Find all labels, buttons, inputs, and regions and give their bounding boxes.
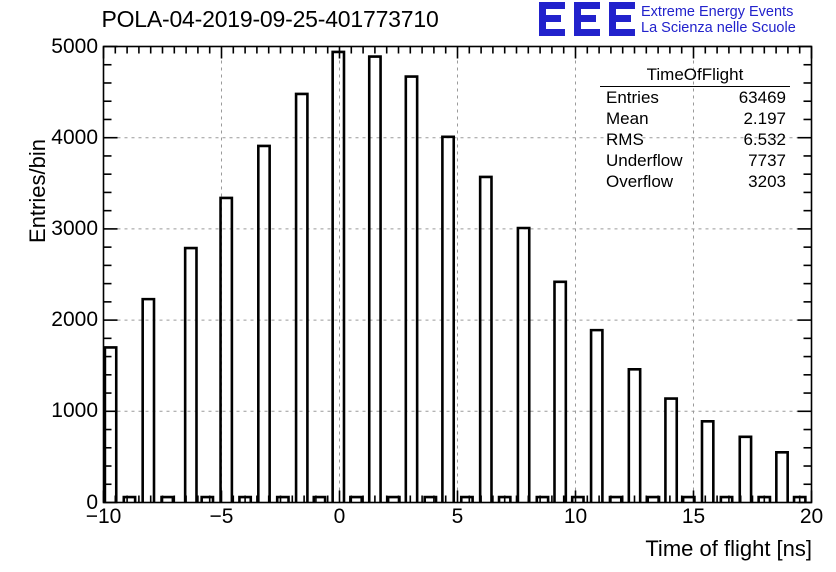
stats-value: 63469 (739, 87, 786, 108)
stats-value: 3203 (748, 171, 786, 192)
stats-key: Entries (606, 87, 659, 108)
stats-key: Overflow (606, 171, 673, 192)
stats-box: TimeOfFlight Entries63469Mean2.197RMS6.5… (600, 64, 790, 192)
stats-row: RMS6.532 (600, 129, 790, 150)
stats-value: 2.197 (743, 108, 786, 129)
root-canvas: POLA-04-2019-09-25-401773710 Extreme Ene… (0, 0, 836, 572)
stats-value: 7737 (748, 150, 786, 171)
stats-row: Mean2.197 (600, 108, 790, 129)
stats-row: Entries63469 (600, 87, 790, 108)
stats-row: Overflow3203 (600, 171, 790, 192)
stats-rows: Entries63469Mean2.197RMS6.532Underflow77… (600, 87, 790, 192)
stats-value: 6.532 (743, 129, 786, 150)
stats-key: Mean (606, 108, 649, 129)
stats-key: Underflow (606, 150, 683, 171)
stats-row: Underflow7737 (600, 150, 790, 171)
stats-key: RMS (606, 129, 644, 150)
stats-title: TimeOfFlight (600, 64, 790, 87)
